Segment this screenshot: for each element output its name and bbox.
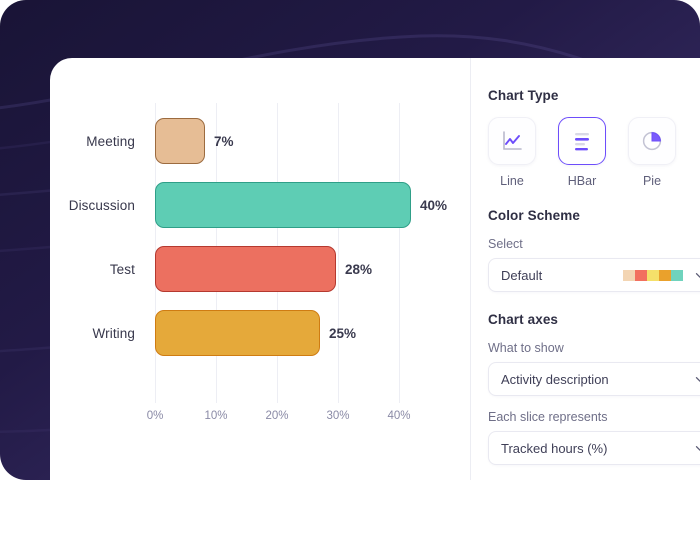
swatch bbox=[635, 270, 647, 281]
chart-type-tile-selected[interactable] bbox=[558, 117, 606, 165]
plot-area: Meeting 7% Discussion 40% Test 28% Writi… bbox=[155, 103, 413, 403]
bar-category-label: Writing bbox=[93, 326, 135, 341]
chart-type-label: Pie bbox=[628, 174, 676, 188]
what-to-show-value: Activity description bbox=[501, 372, 693, 387]
gridline bbox=[399, 103, 400, 403]
x-tick: 20% bbox=[265, 410, 288, 422]
bar-test[interactable] bbox=[155, 246, 336, 292]
bar-value-label: 7% bbox=[214, 134, 234, 149]
each-slice-value: Tracked hours (%) bbox=[501, 441, 693, 456]
chevron-down-icon bbox=[693, 372, 700, 386]
x-tick: 30% bbox=[326, 410, 349, 422]
what-to-show-label: What to show bbox=[488, 341, 700, 355]
bar-row: Test 28% bbox=[155, 237, 372, 301]
chart-type-option-line[interactable]: Line bbox=[488, 117, 536, 188]
panel-divider bbox=[470, 58, 471, 480]
settings-panel: Chart Type Line bbox=[488, 88, 700, 465]
bar-value-label: 25% bbox=[329, 326, 356, 341]
chart-type-heading: Chart Type bbox=[488, 88, 700, 103]
bar-row: Writing 25% bbox=[155, 301, 356, 365]
chart-type-tile[interactable] bbox=[628, 117, 676, 165]
chart-settings-card: Meeting 7% Discussion 40% Test 28% Writi… bbox=[50, 58, 700, 538]
bar-meeting[interactable] bbox=[155, 118, 205, 164]
bar-value-label: 28% bbox=[345, 262, 372, 277]
bar-category-label: Discussion bbox=[69, 198, 135, 213]
each-slice-select[interactable]: Tracked hours (%) bbox=[488, 431, 700, 465]
bar-category-label: Meeting bbox=[86, 134, 135, 149]
what-to-show-select[interactable]: Activity description bbox=[488, 362, 700, 396]
bar-value-label: 40% bbox=[420, 198, 447, 213]
chart-type-tile[interactable] bbox=[488, 117, 536, 165]
x-tick: 40% bbox=[387, 410, 410, 422]
swatch bbox=[623, 270, 635, 281]
chart-type-label: Line bbox=[488, 174, 536, 188]
x-tick: 0% bbox=[147, 410, 164, 422]
horizontal-bar-chart: Meeting 7% Discussion 40% Test 28% Writi… bbox=[50, 58, 470, 480]
color-scheme-value: Default bbox=[501, 268, 623, 283]
bar-row: Meeting 7% bbox=[155, 109, 234, 173]
swatch bbox=[647, 270, 659, 281]
bar-category-label: Test bbox=[110, 262, 135, 277]
swatch bbox=[659, 270, 671, 281]
chart-type-option-pie[interactable]: Pie bbox=[628, 117, 676, 188]
chart-type-option-hbar[interactable]: HBar bbox=[558, 117, 606, 188]
swatch bbox=[671, 270, 683, 281]
chart-axes-heading: Chart axes bbox=[488, 312, 700, 327]
line-chart-icon bbox=[499, 128, 525, 154]
color-scheme-select-label: Select bbox=[488, 237, 700, 251]
color-scheme-heading: Color Scheme bbox=[488, 208, 700, 223]
bar-row: Discussion 40% bbox=[155, 173, 447, 237]
pie-chart-icon bbox=[639, 128, 665, 154]
color-scheme-swatches bbox=[623, 270, 683, 281]
bar-writing[interactable] bbox=[155, 310, 320, 356]
chevron-down-icon bbox=[693, 268, 700, 282]
chart-type-label: HBar bbox=[558, 174, 606, 188]
x-axis-tick-labels: 0% 10% 20% 30% 40% bbox=[155, 410, 413, 428]
bar-discussion[interactable] bbox=[155, 182, 411, 228]
color-scheme-select[interactable]: Default bbox=[488, 258, 700, 292]
x-tick: 10% bbox=[204, 410, 227, 422]
chart-type-options: Line HBar bbox=[488, 117, 700, 188]
horizontal-bar-chart-icon bbox=[569, 128, 595, 154]
each-slice-label: Each slice represents bbox=[488, 410, 700, 424]
chevron-down-icon bbox=[693, 441, 700, 455]
